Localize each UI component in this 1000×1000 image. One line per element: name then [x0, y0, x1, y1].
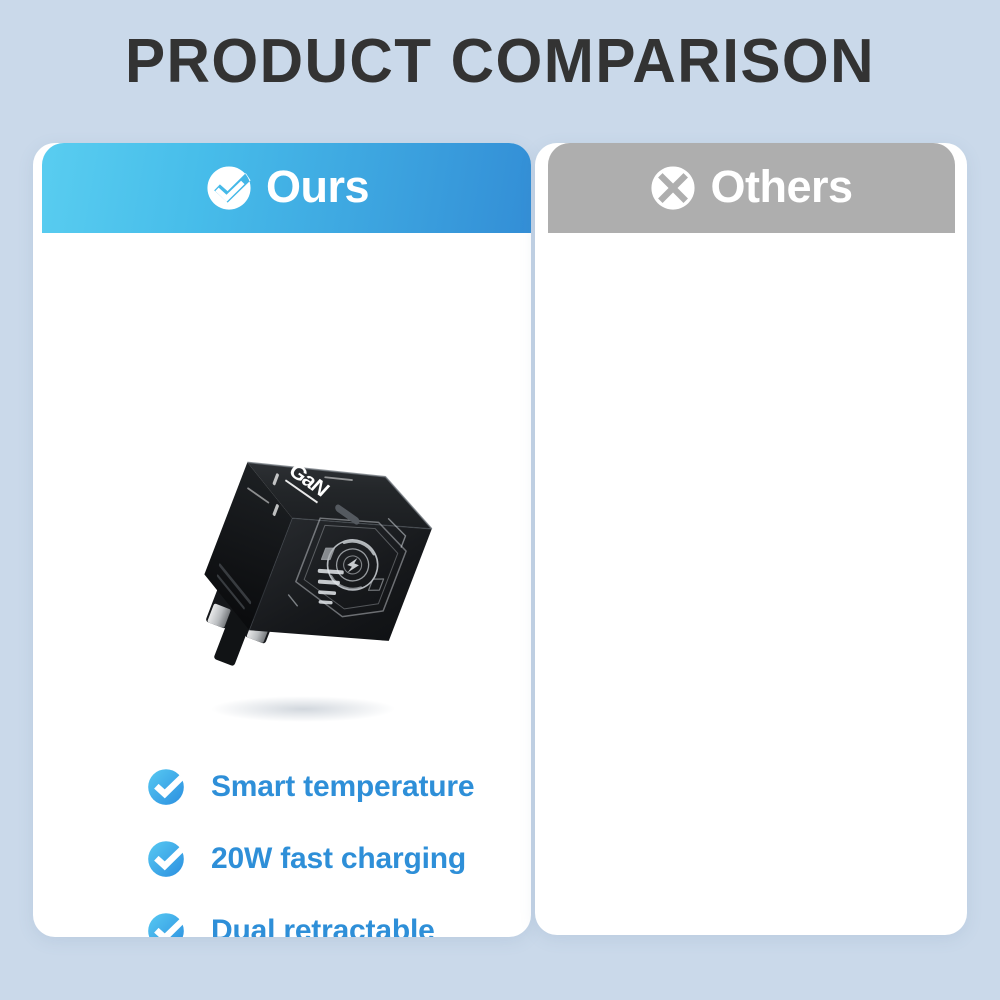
- card-header-ours: Ours: [42, 143, 531, 233]
- comparison-card-others: Others: [535, 143, 967, 935]
- feature-label: Smart temperature: [211, 770, 474, 804]
- check-circle-icon: [147, 840, 185, 878]
- feature-item: 20W fast charging: [147, 823, 531, 895]
- card-header-label-others: Others: [710, 164, 852, 213]
- check-circle-icon: [206, 165, 252, 211]
- feature-item: Dual retractable: [147, 895, 531, 937]
- card-header-others: Others: [548, 143, 955, 233]
- card-header-label-ours: Ours: [266, 164, 369, 213]
- check-circle-icon: [147, 912, 185, 937]
- feature-label: Dual retractable: [211, 914, 435, 937]
- page-title: PRODUCT COMPARISON: [15, 26, 985, 97]
- feature-item: Smart temperature: [147, 751, 531, 823]
- feature-label: 20W fast charging: [211, 842, 466, 876]
- x-circle-icon: [650, 165, 696, 211]
- comparison-card-ours: Ours: [33, 143, 531, 937]
- feature-list-ours: Smart temperature 20W fast charging Dual…: [147, 751, 531, 937]
- product-image-ours: GaN: [153, 393, 473, 723]
- check-circle-icon: [147, 768, 185, 806]
